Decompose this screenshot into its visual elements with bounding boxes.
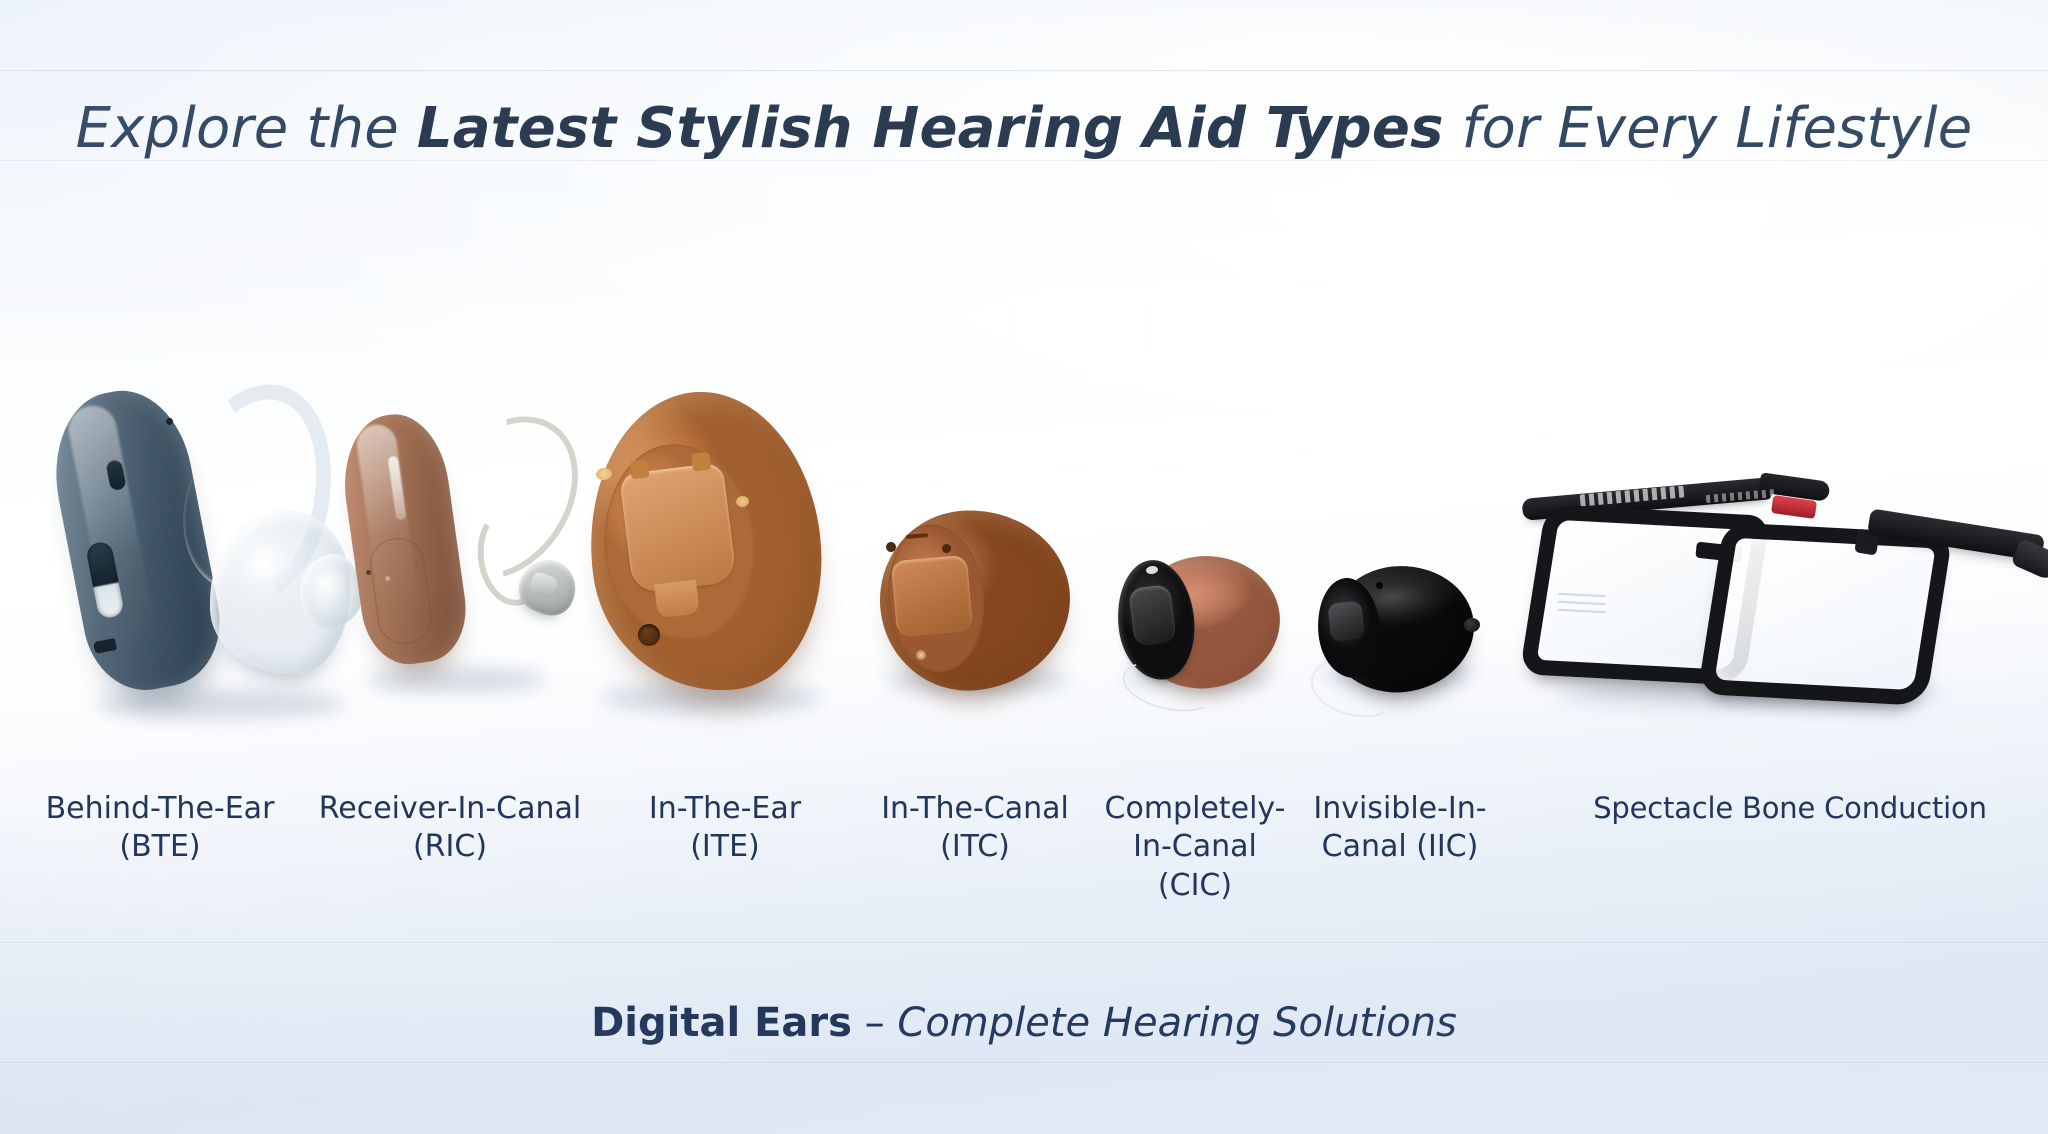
caption-ric-line2: (RIC) [300, 828, 600, 866]
caption-ite-line2: (ITE) [600, 828, 850, 866]
caption-cic-line1: Completely- [1095, 790, 1295, 828]
caption-row: Behind-The-Ear (BTE) Receiver-In-Canal (… [0, 0, 2048, 1134]
caption-ric-line1: Receiver-In-Canal [300, 790, 600, 828]
caption-receiver-in-canal: Receiver-In-Canal (RIC) [300, 790, 600, 867]
footer-brand-line: Digital Ears – Complete Hearing Solution… [0, 1000, 2048, 1046]
footer-dash: – [852, 1000, 897, 1046]
caption-cic-line3: (CIC) [1095, 867, 1295, 905]
caption-spectacle-line1: Spectacle Bone Conduction [1530, 790, 2048, 827]
infographic-canvas: Explore the Latest Stylish Hearing Aid T… [0, 0, 2048, 1134]
footer-tagline: Complete Hearing Solutions [897, 1000, 1457, 1046]
caption-bte-line1: Behind-The-Ear [20, 790, 300, 828]
caption-invisible-in-canal: Invisible-In- Canal (IIC) [1295, 790, 1505, 867]
caption-behind-the-ear: Behind-The-Ear (BTE) [20, 790, 300, 867]
caption-completely-in-canal: Completely- In-Canal (CIC) [1095, 790, 1295, 905]
caption-cic-line2: In-Canal [1095, 828, 1295, 866]
caption-in-the-ear: In-The-Ear (ITE) [600, 790, 850, 867]
caption-spectacle-bone-conduction: Spectacle Bone Conduction [1530, 790, 2048, 827]
caption-iic-line1: Invisible-In- [1295, 790, 1505, 828]
footer-brand-name: Digital Ears [591, 1000, 852, 1046]
caption-in-the-canal: In-The-Canal (ITC) [850, 790, 1100, 867]
caption-bte-line2: (BTE) [20, 828, 300, 866]
caption-iic-line2: Canal (IIC) [1295, 828, 1505, 866]
caption-itc-line2: (ITC) [850, 828, 1100, 866]
caption-itc-line1: In-The-Canal [850, 790, 1100, 828]
caption-ite-line1: In-The-Ear [600, 790, 850, 828]
